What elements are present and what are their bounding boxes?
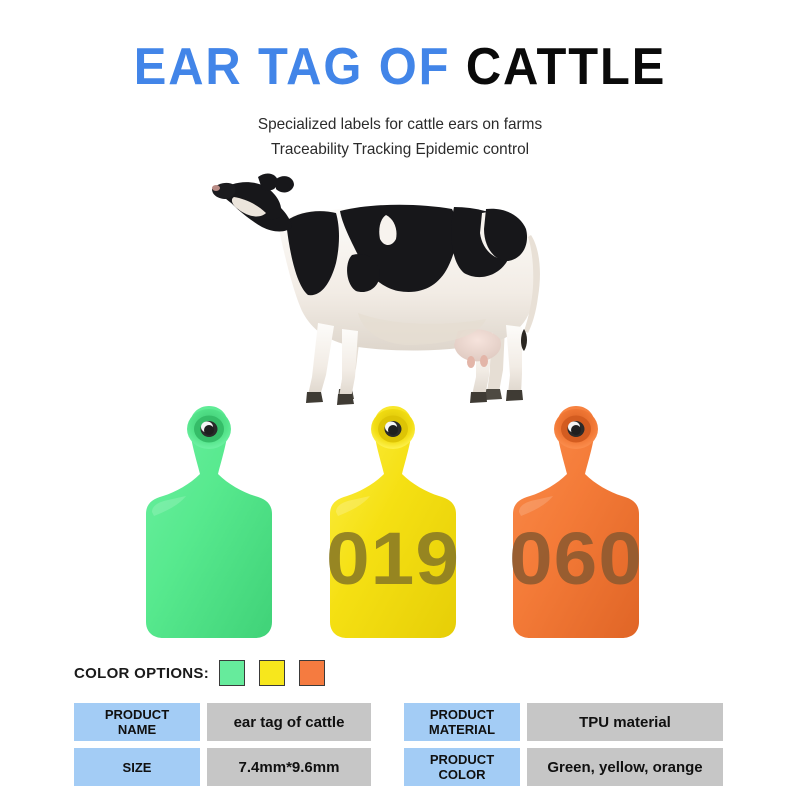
spec-value-product-color: Green, yellow, orange: [527, 748, 723, 786]
spec-table-right: PRODUCT MATERIAL TPU material PRODUCT CO…: [404, 703, 723, 793]
spec-label-product-material: PRODUCT MATERIAL: [404, 703, 520, 741]
spec-table-left: PRODUCT NAME ear tag of cattle SIZE 7.4m…: [74, 703, 371, 793]
page-title-blue-segment: EAR TAG OF: [134, 38, 451, 96]
holstein-cow-photo: [190, 163, 610, 408]
spec-row-size: SIZE 7.4mm*9.6mm: [74, 748, 371, 786]
ear-tag-gallery: 019 060: [0, 400, 800, 645]
page-header: EAR TAG OF CATTLE: [0, 40, 800, 94]
page-title-black-segment: [450, 38, 465, 96]
page-title-black-word: CATTLE: [466, 38, 666, 96]
spec-value-product-name: ear tag of cattle: [207, 703, 371, 741]
color-swatch-green[interactable]: [219, 660, 245, 686]
spec-row-product-material: PRODUCT MATERIAL TPU material: [404, 703, 723, 741]
subtitle-block: Specialized labels for cattle ears on fa…: [0, 112, 800, 162]
spec-value-size: 7.4mm*9.6mm: [207, 748, 371, 786]
green-ear-tag[interactable]: [116, 400, 302, 642]
color-options-label: COLOR OPTIONS:: [74, 665, 209, 682]
spec-label-size: SIZE: [74, 748, 200, 786]
color-swatch-orange[interactable]: [299, 660, 325, 686]
color-swatch-yellow[interactable]: [259, 660, 285, 686]
spec-label-product-color: PRODUCT COLOR: [404, 748, 520, 786]
subtitle-line-2: Traceability Tracking Epidemic control: [16, 137, 784, 162]
spec-label-product-name: PRODUCT NAME: [74, 703, 200, 741]
subtitle-line-1: Specialized labels for cattle ears on fa…: [16, 112, 784, 137]
page-title: EAR TAG OF CATTLE: [24, 40, 776, 94]
spec-row-product-color: PRODUCT COLOR Green, yellow, orange: [404, 748, 723, 786]
spec-row-product-name: PRODUCT NAME ear tag of cattle: [74, 703, 371, 741]
yellow-ear-tag[interactable]: 019: [300, 400, 486, 642]
color-options-row: COLOR OPTIONS:: [74, 658, 339, 688]
orange-ear-tag[interactable]: 060: [483, 400, 669, 642]
spec-value-product-material: TPU material: [527, 703, 723, 741]
